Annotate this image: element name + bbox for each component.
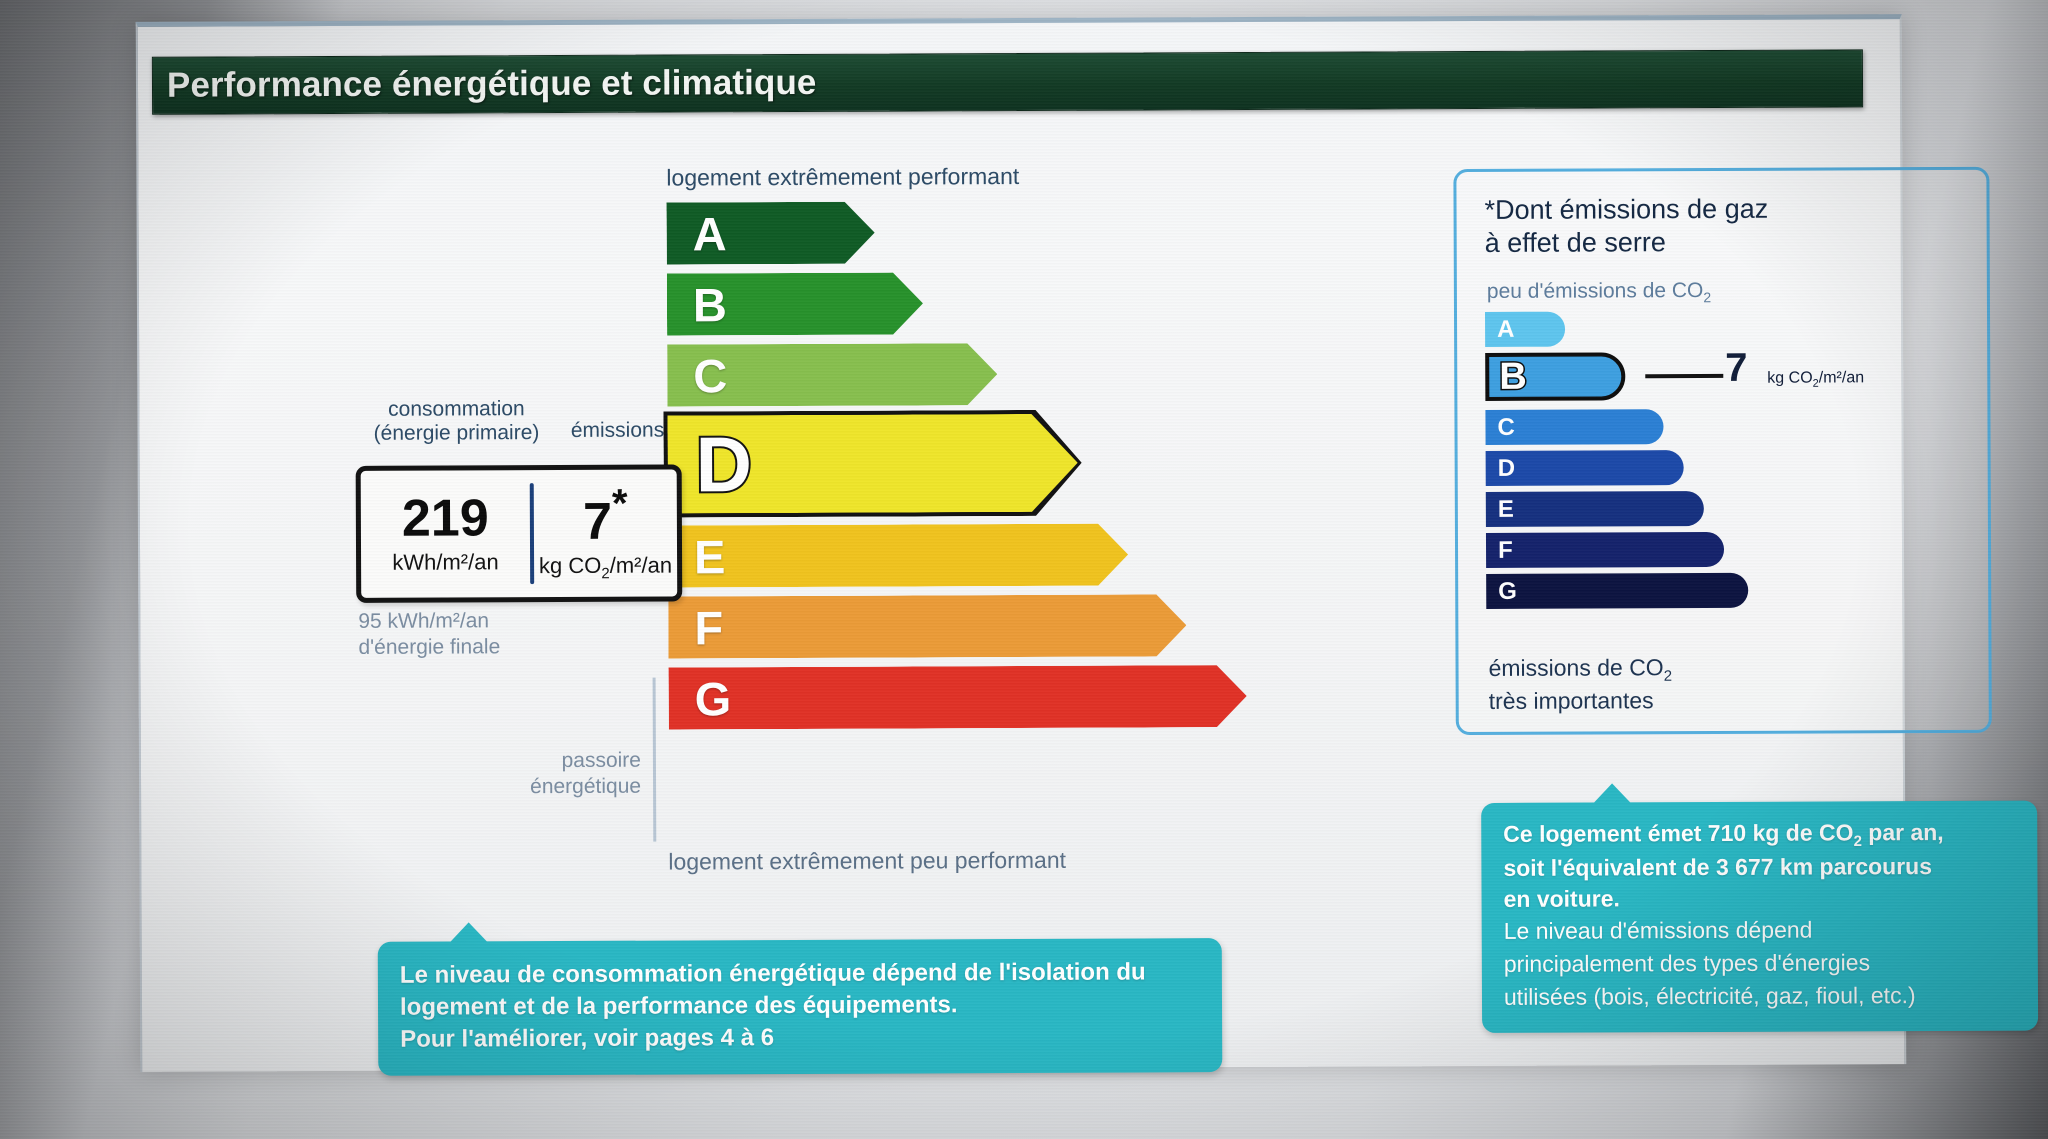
co2-leader-line	[1645, 374, 1723, 378]
energy-ladder-top-caption: logement extrêmement performant	[666, 163, 1019, 192]
consumption-label: consommation (énergie primaire)	[361, 397, 551, 445]
callout-co2-line6: utilisées (bois, électricité, gaz, fioul…	[1504, 979, 2016, 1012]
callout-energy-advice: Le niveau de consommation énergétique dé…	[378, 938, 1223, 1075]
co2-bar-row-g[interactable]: G	[1486, 572, 1946, 609]
energy-bar-row-a[interactable]: A	[667, 200, 1307, 265]
co2-bar-row-f[interactable]: F	[1486, 531, 1946, 568]
final-energy-note: 95 kWh/m²/an d'énergie finale	[358, 608, 500, 661]
final-energy-line1: 95 kWh/m²/an	[358, 608, 500, 635]
page-title-banner: Performance énergétique et climatique	[152, 49, 1863, 114]
co2-bottom-label-line2: très importantes	[1489, 687, 1673, 717]
emissions-label: émissions	[547, 418, 687, 442]
callout-co2-line1: Ce logement émet 710 kg de CO2 par an,	[1503, 817, 2015, 854]
co2-value: 7	[1725, 348, 1747, 388]
energy-bar-row-g[interactable]: G	[669, 665, 1309, 730]
co2-bar-label-g: G	[1486, 579, 1517, 603]
emissions-value-cell: 7* kg CO2/m²/an	[534, 470, 678, 598]
callout-co2-line5: principalement des types d'énergies	[1504, 947, 2016, 980]
co2-bar-label-d: D	[1486, 456, 1515, 480]
consumption-label-line1: consommation	[361, 397, 551, 421]
energy-bar-row-d-current[interactable]: D	[667, 413, 1307, 514]
co2-panel-title-line1: *Dont émissions de gaz	[1484, 192, 1844, 227]
energy-bar-label-c: C	[667, 352, 727, 399]
callout-co2-advice: Ce logement émet 710 kg de CO2 par an, s…	[1481, 801, 2038, 1033]
callout-co2-line2: soit l'équivalent de 3 677 km parcourus	[1503, 851, 2015, 884]
co2-bar-row-c[interactable]: C	[1485, 408, 1945, 445]
energy-bar-row-f[interactable]: F	[668, 594, 1308, 659]
callout-energy-line3: Pour l'améliorer, voir pages 4 à 6	[400, 1020, 1200, 1055]
callout-energy-line2: logement et de la performance des équipe…	[400, 988, 1200, 1023]
co2-panel-title-line2: à effet de serre	[1485, 225, 1845, 260]
co2-bar-label-b: B	[1489, 358, 1527, 396]
energy-bar-row-b[interactable]: B	[667, 271, 1307, 336]
callout-energy-line1: Le niveau de consommation énergétique dé…	[400, 956, 1200, 991]
energy-bar-label-b: B	[667, 281, 727, 328]
callout-co2-line4: Le niveau d'émissions dépend	[1504, 914, 2016, 947]
energy-value-box: 219 kWh/m²/an 7* kg CO2/m²/an	[356, 464, 683, 602]
callout-tail-icon	[450, 922, 488, 942]
callout-co2-line3: en voiture.	[1503, 881, 2015, 914]
co2-bottom-label-line1: émissions de CO2	[1488, 653, 1672, 687]
co2-bar-label-e: E	[1486, 497, 1514, 521]
energy-bar-row-c[interactable]: C	[667, 342, 1307, 407]
energy-ladder-bottom-caption: logement extrêmement peu performant	[668, 847, 1066, 876]
co2-bar-label-c: C	[1485, 415, 1514, 439]
co2-bar-row-a[interactable]: A	[1485, 310, 1945, 347]
co2-top-label: peu d'émissions de CO2	[1487, 279, 1711, 306]
consumption-value: 219	[402, 492, 489, 544]
passoire-line2: énergétique	[511, 774, 641, 801]
passoire-line1: passoire	[511, 748, 641, 775]
energy-bar-label-a: A	[667, 210, 727, 257]
energy-bar-label-f: F	[668, 604, 723, 651]
co2-panel: *Dont émissions de gaz à effet de serre …	[1453, 167, 1991, 735]
consumption-label-line2: (énergie primaire)	[361, 421, 551, 445]
co2-bar-row-b-current[interactable]: B 7 kg CO2/m²/an	[1485, 351, 1945, 401]
co2-panel-title: *Dont émissions de gaz à effet de serre	[1484, 192, 1844, 259]
consumption-value-cell: 219 kWh/m²/an	[361, 470, 530, 598]
value-box-labels: consommation (énergie primaire) émission…	[361, 396, 691, 397]
emissions-value: 7*	[583, 484, 628, 548]
final-energy-line2: d'énergie finale	[358, 635, 500, 662]
co2-bottom-label: émissions de CO2 très importantes	[1488, 653, 1672, 716]
passoire-energetique-label: passoire énergétique	[511, 748, 641, 801]
passoire-bracket-line	[653, 678, 657, 842]
energy-ladder: A B C D E	[667, 200, 1309, 739]
co2-bar-label-a: A	[1485, 317, 1514, 341]
consumption-unit: kWh/m²/an	[392, 549, 498, 575]
co2-bar-row-d[interactable]: D	[1486, 449, 1946, 486]
co2-ladder: A B 7 kg CO2/m²/an C D	[1485, 310, 1946, 615]
co2-bar-label-f: F	[1486, 538, 1513, 562]
emissions-unit: kg CO2/m²/an	[539, 553, 672, 583]
energy-bar-label-g: G	[669, 675, 732, 722]
page-title: Performance énergétique et climatique	[153, 63, 817, 106]
co2-value-unit: kg CO2/m²/an	[1767, 369, 1864, 390]
emissions-asterisk: *	[612, 482, 628, 526]
callout-tail-icon	[1593, 783, 1631, 803]
co2-bar-row-e[interactable]: E	[1486, 490, 1946, 527]
energy-bar-row-e[interactable]: E	[668, 523, 1308, 588]
dpe-page: Performance énergétique et climatique lo…	[136, 14, 1907, 1072]
